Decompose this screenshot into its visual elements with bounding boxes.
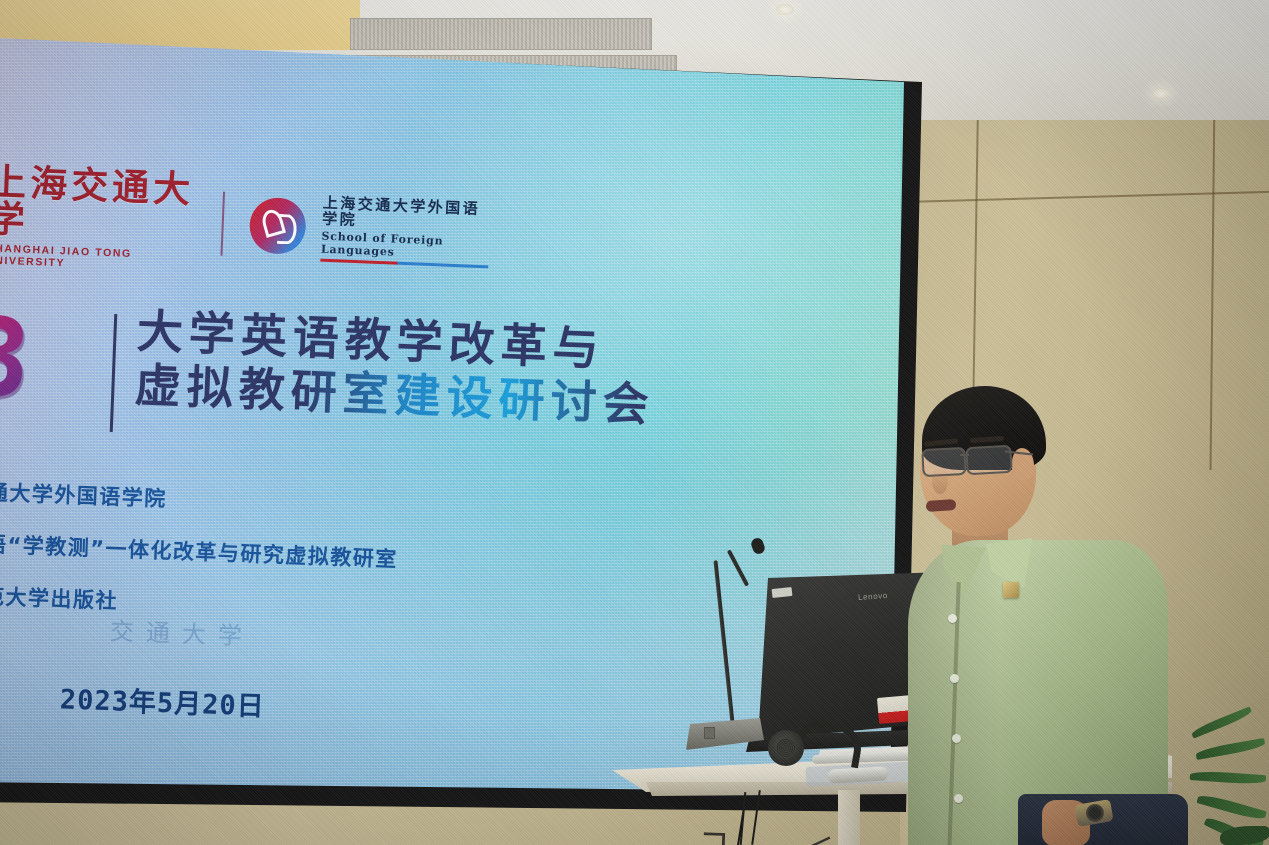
sjtu-name-en: SHANGHAI JIAO TONG UNIVERSITY (0, 242, 195, 274)
slide-subtitle-unit: 大学英语“学教测”一体化改革与研究虚拟教研室 (0, 526, 398, 574)
eyeglasses-bridge (960, 454, 969, 456)
slide-date: 2023年5月20日 (59, 677, 265, 723)
speaker-person (900, 382, 1200, 845)
shirt-button (952, 734, 961, 743)
sjtu-name-cn: 上海交通大学 (0, 163, 198, 245)
shirt-button (954, 794, 963, 803)
eyeglasses-icon (965, 445, 1012, 475)
sfl-name-en: School of Foreign Languages (321, 229, 492, 262)
podium-table-leg (838, 790, 860, 845)
presentation-photo: 上海交通大学 SHANGHAI JIAO TONG UNIVERSITY 上海交… (0, 0, 1269, 845)
sfl-name-cn: 上海交通大学外国语学院 (322, 194, 493, 234)
headphones-icon (768, 730, 804, 766)
title-separator-bar (110, 314, 118, 432)
school-of-foreign-languages-icon (249, 197, 307, 255)
mouth (926, 499, 957, 512)
shirt-button (950, 674, 959, 683)
palm-frond (1190, 706, 1253, 738)
slide-watermark: 交通大学 (109, 611, 254, 651)
slide-decoration-glyph: ＜ (799, 822, 835, 845)
logo-divider (221, 192, 225, 256)
lapel-badge-pin-icon (1003, 582, 1019, 598)
sjtu-wordmark: 上海交通大学 SHANGHAI JIAO TONG UNIVERSITY (0, 163, 198, 274)
nose (932, 468, 948, 494)
potted-palm (1186, 700, 1269, 845)
shirt-button (948, 614, 957, 623)
palm-frond (1190, 770, 1267, 785)
slide-year: 23 (0, 302, 32, 415)
slide-decoration-glyph: ⊐ (699, 821, 729, 845)
slide-title: 大学英语教学改革与 虚拟教研室建设研讨会 (134, 304, 658, 432)
microphone-base-button[interactable] (704, 727, 715, 739)
downlight-icon (776, 4, 794, 15)
slide-logo-row: 上海交通大学 SHANGHAI JIAO TONG UNIVERSITY 上海交… (0, 166, 493, 280)
palm-frond (1195, 738, 1266, 760)
sfl-wordmark: 上海交通大学外国语学院 School of Foreign Languages (320, 194, 492, 268)
slide-subtitle-organizer: 上海交通大学外国语学院 (0, 474, 400, 522)
downlight-icon (1152, 88, 1170, 99)
